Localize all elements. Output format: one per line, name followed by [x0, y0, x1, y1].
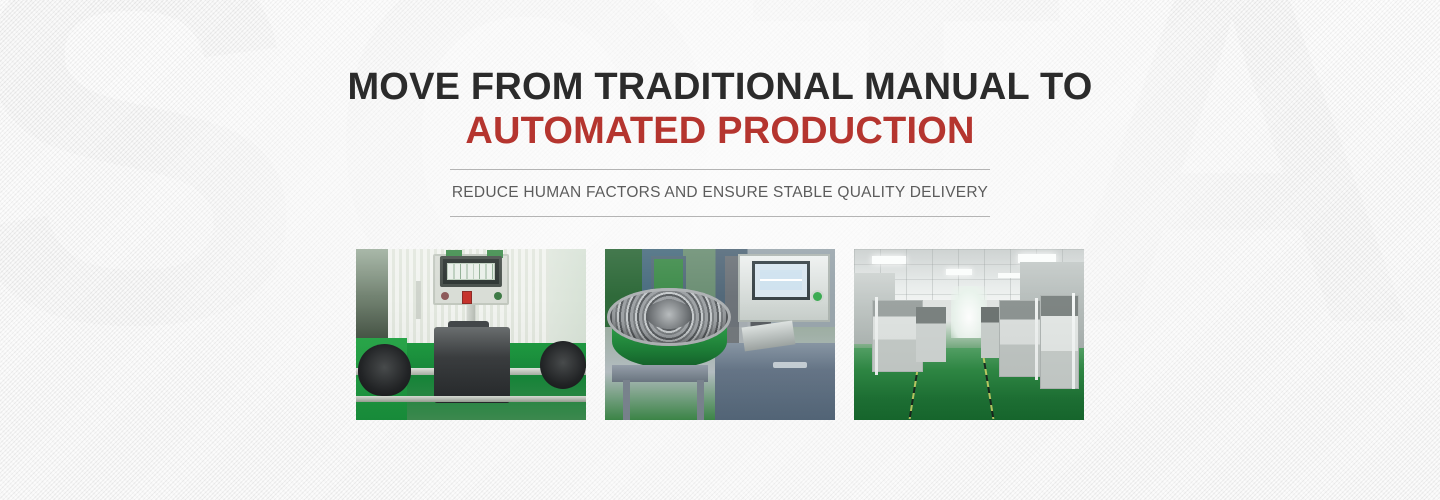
photo2-panel-screen — [752, 261, 810, 300]
photo2-table-leg-left — [623, 380, 630, 419]
photo-gallery — [356, 249, 1084, 420]
photo3-frame-left — [875, 297, 878, 376]
photo2-start-button — [811, 290, 824, 303]
photo1-hmi-screen — [440, 256, 502, 287]
photo1-assembly-jig — [434, 327, 510, 402]
gallery-photo-automated-assembly-machine[interactable] — [356, 249, 586, 420]
photo3-ceiling-lamp-b — [946, 269, 972, 275]
promo-banner: SOTAN MOVE FROM TRADITIONAL MANUAL TO AU… — [0, 0, 1440, 500]
photo1-vertical-arm — [416, 281, 421, 319]
divider-above-subheadline — [450, 169, 990, 170]
banner-content: MOVE FROM TRADITIONAL MANUAL TO AUTOMATE… — [0, 0, 1440, 500]
headline-accent: AUTOMATED PRODUCTION — [0, 110, 1440, 154]
photo1-part-left — [358, 344, 411, 395]
photo3-machine-left-2 — [916, 307, 946, 362]
photo1-conveyor-rail-lower — [356, 396, 586, 402]
subheadline: REDUCE HUMAN FACTORS AND ENSURE STABLE Q… — [0, 184, 1440, 202]
photo3-frame-right-inner — [1035, 298, 1038, 380]
divider-below-subheadline — [450, 216, 990, 217]
heading-block: MOVE FROM TRADITIONAL MANUAL TO AUTOMATE… — [0, 67, 1440, 217]
headline-primary: MOVE FROM TRADITIONAL MANUAL TO — [0, 67, 1440, 108]
gallery-photo-production-workshop-aisle[interactable] — [854, 249, 1084, 420]
photo2-cabinet-handle — [773, 362, 808, 368]
photo2-table-leg-right — [697, 380, 704, 419]
photo3-ceiling-lamp-d — [998, 273, 1020, 278]
photo2-machine-cabinet — [715, 343, 835, 420]
gallery-photo-vibratory-bowl-feeder[interactable] — [605, 249, 835, 420]
photo1-emergency-stop — [462, 291, 472, 304]
photo3-ceiling-lamp-a — [872, 256, 906, 264]
photo3-frame-right — [1072, 293, 1075, 389]
photo3-machine-right-1 — [999, 300, 1045, 377]
photo1-part-right — [540, 341, 586, 389]
